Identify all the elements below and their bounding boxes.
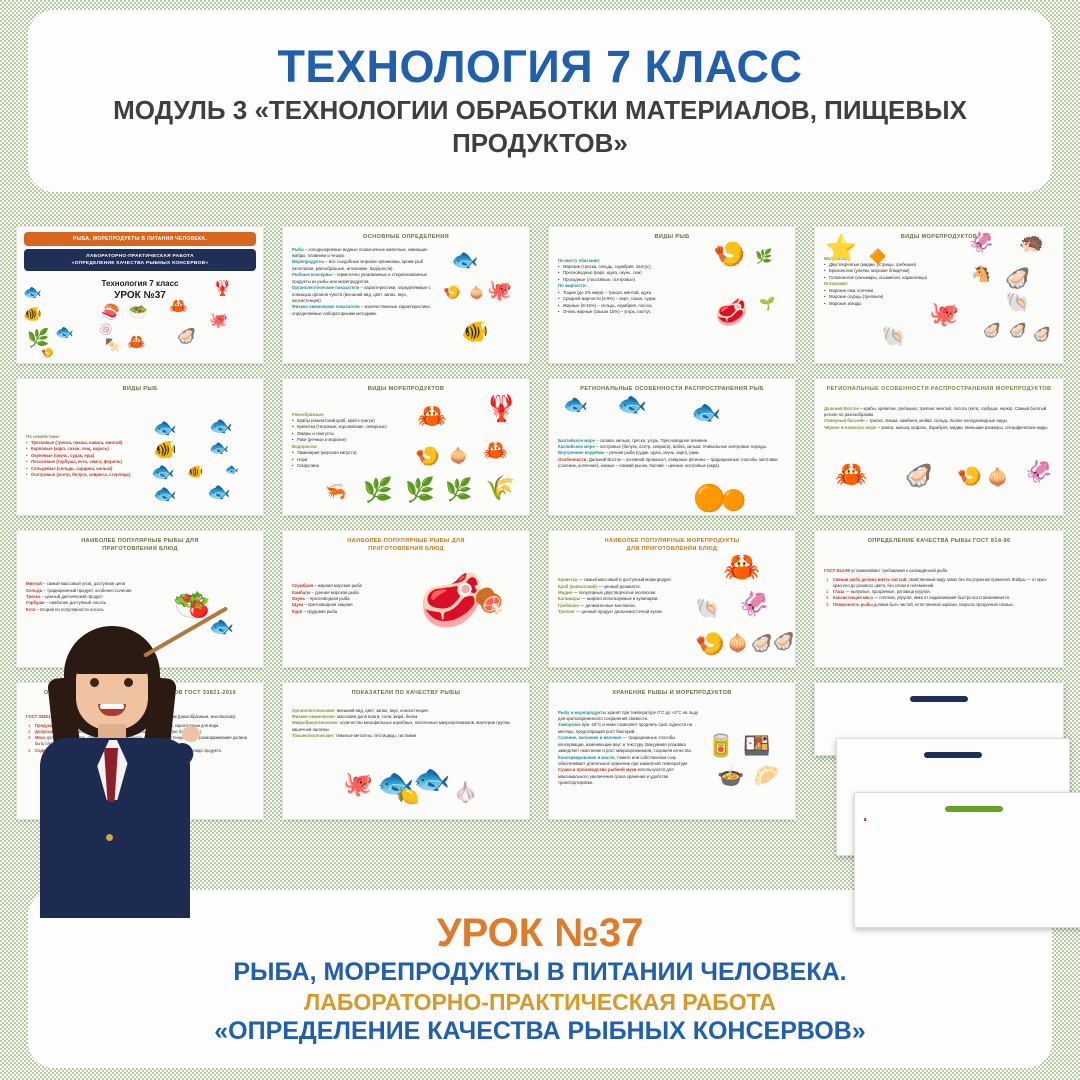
slide-thumbnail-fish-types-2[interactable]: ВИДЫ РЫБ По семействам: Тресковые (треск… <box>16 378 264 516</box>
slide-thumbnail-fish-quality-gost[interactable]: ОПРЕДЕЛЕНИЕ КАЧЕСТВА РЫБЫ ГОСТ 814-96 ГО… <box>814 530 1064 668</box>
slide7-line-4: Особенности: Дальний Восток – основной п… <box>558 457 786 470</box>
slide11-title-line2: ДЛЯ ПРИГОТОВЛЕНИЯ БЛЮД <box>559 546 785 554</box>
list-item: Проходные (лососёвые, осетровые) <box>558 277 702 283</box>
lesson-topic: РЫБА, МОРЕПРОДУКТЫ В ПИТАНИИ ЧЕЛОВЕКА. <box>233 957 846 988</box>
slide15-line-4: Консервирование в масле, томате или собс… <box>558 755 702 768</box>
slide1-navy-line1: ЛАБОРАТОРНО-ПРАКТИЧЕСКАЯ РАБОТА <box>26 253 254 260</box>
slide2-title: ОСНОВНЫЕ ОПРЕДЕЛЕНИЯ <box>289 232 523 242</box>
slide2-body: Рыба – холоднокровные водные позвоночные… <box>289 247 434 318</box>
slide10-body: Скумбрия – жирная морская рыба Камбала –… <box>289 583 409 615</box>
slide-thumbnail-seafood-types-1[interactable]: ВИДЫ МОРЕПРОДУКТОВ Моллюски: Двустворчат… <box>814 226 1064 364</box>
list-item: Поверхность рыбы должна быть чистой, ест… <box>826 602 1054 608</box>
slide12-requirements-list: Свежая рыба должна иметь чистый, свойств… <box>824 577 1054 608</box>
slide-thumbnail-title[interactable]: РЫБА, МОРЕПРОДУКТЫ В ПИТАНИИ ЧЕЛОВЕКА. Л… <box>16 226 264 364</box>
lab3-answers-badge[interactable] <box>945 806 1003 812</box>
fish-steak-closeup-illustration: 🥩 🍖 <box>409 565 529 663</box>
lab-slide-answers[interactable] <box>854 792 1080 928</box>
slide6-group-2-list: Ламинария (морская капуста) Нори Спирули… <box>292 450 426 469</box>
slide4-group-1-list: Двустворчатые (мидии, устрицы, гребешки)… <box>824 262 968 281</box>
slide5-family-list: Тресковые (треска, пикша, навага, минтай… <box>26 440 152 479</box>
slide-thumbnail-definitions[interactable]: ОСНОВНЫЕ ОПРЕДЕЛЕНИЯ Рыба – холоднокровн… <box>282 226 530 364</box>
slide8-title: РЕГИОНАЛЬНЫЕ ОСОБЕННОСТИ РАСПРОСТРАНЕНИЯ… <box>821 384 1057 394</box>
slide9-title-line2: ПРИГОТОВЛЕНИЯ БЛЮД <box>27 546 253 554</box>
regional-seafood-illustration: 🦀 🦪 🍤 🧅 🦑 <box>829 457 1059 515</box>
slide3-group-2-list: Тощие (до 2% жира) – треска, минтай, щук… <box>558 290 702 316</box>
list-item: Кета – второй по популярности лосось <box>26 607 166 613</box>
slide6-group-1-list: Крабы (камчатский краб, краб-стригун) Кр… <box>292 418 426 444</box>
slide15-title: ХРАНЕНИЕ РЫБЫ И МОРЕПРОДУКТОВ <box>555 688 789 698</box>
slide3-body: По месту обитания: Морские (треска, сель… <box>555 258 705 316</box>
slide2-line-4: Органолептические показатели – характери… <box>292 285 431 304</box>
slide1-navy-line2: «ОПРЕДЕЛЕНИЕ КАЧЕСТВА РЫБНЫХ КОНСЕРВОВ» <box>26 260 254 267</box>
module-subtitle: МОДУЛЬ 3 «ТЕХНОЛОГИИ ОБРАБОТКИ МАТЕРИАЛО… <box>100 94 980 158</box>
slide-thumbnail-popular-fish-2[interactable]: НАИБОЛЕЕ ПОПУЛЯРНЫЕ РЫБЫ ДЛЯ ПРИГОТОВЛЕН… <box>282 530 530 668</box>
slide15-body: Рыбу и морепродукты хранят при температу… <box>555 710 705 787</box>
list-item: Спирулина <box>292 463 426 469</box>
lesson-work-title: «ОПРЕДЕЛЕНИЕ КАЧЕСТВА РЫБНЫХ КОНСЕРВОВ» <box>214 1016 865 1047</box>
slide4-body: Моллюски: Двустворчатые (мидии, устрицы,… <box>821 256 971 308</box>
packaged-fish-illustration: 🥫 🍱 🍲 🥟 <box>705 735 796 805</box>
slide15-line-2: Заморозка при -18°С и ниже позволяет про… <box>558 722 702 735</box>
list-item: Головоногие (кальмары, осьминоги, карака… <box>824 275 968 281</box>
slide2-line-1: Рыба – холоднокровные водные позвоночные… <box>292 247 431 260</box>
slide1-center-block: Технология 7 класс УРОК №37 <box>17 279 263 301</box>
slide9-title: НАИБОЛЕЕ ПОПУЛЯРНЫЕ РЫБЫ ДЛЯ ПРИГОТОВЛЕН… <box>23 536 257 553</box>
slide11-title: НАИБОЛЕЕ ПОПУЛЯРНЫЕ МОРЕПРОДУКТЫ ДЛЯ ПРИ… <box>555 536 789 553</box>
top-title-banner: ТЕХНОЛОГИЯ 7 КЛАСС МОДУЛЬ 3 «ТЕХНОЛОГИИ … <box>28 10 1052 192</box>
slide-thumbnail-quality-indicators[interactable]: ПОКАЗАТЕЛИ ПО КАЧЕСТВУ РЫБЫ Органолептич… <box>282 682 530 820</box>
fish-species-illustration: 🐟 🐟 🐠 🐟 🐟 🐠 🐟 🐟 🐟 <box>151 413 263 511</box>
eye-left <box>90 678 99 687</box>
slide-thumbnail-seafood-regions[interactable]: РЕГИОНАЛЬНЫЕ ОСОБЕННОСТИ РАСПРОСТРАНЕНИЯ… <box>814 378 1064 516</box>
popular-seafood-illustration: 🦀 🐚 🦑 🍤 🧅 🦪 🦪 <box>695 551 795 667</box>
slide1-lesson-number: УРОК №37 <box>17 290 263 301</box>
slide-thumbnail-fish-regions[interactable]: РЕГИОНАЛЬНЫЕ ОСОБЕННОСТИ РАСПРОСТРАНЕНИЯ… <box>548 378 796 516</box>
slide14-line-4: Токсикологические: тяжелые металлы, пест… <box>292 733 520 739</box>
slide1-orange-header: РЫБА, МОРЕПРОДУКТЫ В ПИТАНИИ ЧЕЛОВЕКА. <box>24 232 256 246</box>
slide2-line-3: Рыбные консервы – герметично упакованные… <box>292 272 431 285</box>
lesson-number: УРОК №37 <box>437 911 644 955</box>
slide7-body: Балтийское море – салака, килька, треска… <box>555 438 789 470</box>
slide5-body: По семействам: Тресковые (треска, пикша,… <box>23 434 155 479</box>
list-item: Очень жирные (свыше 15%) – угорь, палтус <box>558 309 702 315</box>
slide-thumbnail-popular-seafood[interactable]: НАИБОЛЕЕ ПОПУЛЯРНЫЕ МОРЕПРОДУКТЫ ДЛЯ ПРИ… <box>548 530 796 668</box>
slide10-title-line1: НАИБОЛЕЕ ПОПУЛЯРНЫЕ РЫБЫ ДЛЯ <box>293 538 519 546</box>
page-title: ТЕХНОЛОГИЯ 7 КЛАСС <box>277 43 802 90</box>
slide4-group-2-list: Морские ежи, кончики Морские огурцы (тре… <box>824 288 968 307</box>
slide7-title: РЕГИОНАЛЬНЫЕ ОСОБЕННОСТИ РАСПРОСТРАНЕНИЯ… <box>555 384 789 394</box>
list-item: Свежая рыба должна иметь чистый, свойств… <box>826 577 1054 589</box>
slide-thumbnail-fish-types-1[interactable]: ВИДЫ РЫБ По месту обитания: Морские (тре… <box>548 226 796 364</box>
list-item: Морские звезды <box>824 301 968 307</box>
slide5-title: ВИДЫ РЫБ <box>23 384 257 394</box>
list-item: Трепанг — ценный продукт дальневосточной… <box>558 609 698 615</box>
teeth <box>100 704 124 709</box>
slide8-line-1: Дальний Восток – крабы, креветки, гребеш… <box>824 406 1054 419</box>
slide10-title-line2: ПРИГОТОВЛЕНИЯ БЛЮД <box>293 546 519 554</box>
fish-illustration: 🐟 🍤 🧅 🐙 🐠 <box>443 245 529 363</box>
fish-platter-illustration: 🐙 🐟 🐟 🍋 🧄 <box>343 765 503 820</box>
slide-thumbnail-storage[interactable]: ХРАНЕНИЕ РЫБЫ И МОРЕПРОДУКТОВ Рыбу и мор… <box>548 682 796 820</box>
slide3-group-1-list: Морские (треска, сельдь, скумбрия, палту… <box>558 264 702 283</box>
slide12-intro: ГОСТ 814-96 устанавливает требования к о… <box>824 568 1054 574</box>
slide9-title-line1: НАИБОЛЕЕ ПОПУЛЯРНЫЕ РЫБЫ ДЛЯ <box>27 538 253 546</box>
slide14-title: ПОКАЗАТЕЛИ ПО КАЧЕСТВУ РЫБЫ <box>289 688 523 698</box>
slide6-title: ВИДЫ МОРЕПРОДУКТОВ <box>289 384 523 394</box>
slide10-title: НАИБОЛЕЕ ПОПУЛЯРНЫЕ РЫБЫ ДЛЯ ПРИГОТОВЛЕН… <box>289 536 523 553</box>
list-item: Раки (речные и морские) <box>292 437 426 443</box>
slide4-title: ВИДЫ МОРЕПРОДУКТОВ <box>821 232 1057 242</box>
jacket-button <box>106 834 113 841</box>
slide15-line-5: Сушка и производство рыбной муки использ… <box>558 767 702 786</box>
eye-right <box>124 678 133 687</box>
hand <box>182 726 200 742</box>
slide6-body: Ракообразные: Крабы (камчатский краб, кр… <box>289 412 429 470</box>
lab2-task-badge[interactable] <box>924 752 982 758</box>
slide8-body: Дальний Восток – крабы, креветки, гребеш… <box>821 406 1057 432</box>
slide14-line-3: Микробиологические: количество мезофильн… <box>292 720 520 733</box>
slide12-title: ОПРЕДЕЛЕНИЕ КАЧЕСТВА РЫБЫ ГОСТ 814-96 <box>821 536 1057 546</box>
slide15-line-1: Рыбу и морепродукты хранят при температу… <box>558 710 702 723</box>
slide9-body: Минтай – самый массовый улов, доступная … <box>23 581 169 613</box>
lab1-task-badge[interactable] <box>910 696 968 702</box>
lesson-worktype: ЛАБОРАТОРНО-ПРАКТИЧЕСКАЯ РАБОТА <box>304 988 776 1016</box>
slide14-body: Органолептические: внешний вид, цвет, за… <box>289 708 523 740</box>
teacher-character-illustration <box>24 626 206 918</box>
fish-steak-illustration: 🍤 🌿 🥩 🌱 <box>709 239 796 363</box>
slide8-line-3: Чёрное и Азовское море – хамса, килька, … <box>824 425 1054 431</box>
list-item: Осетровые (осетр, белуга, севрюга, стерл… <box>26 472 152 478</box>
slide-thumbnail-seafood-types-2[interactable]: ВИДЫ МОРЕПРОДУКТОВ Ракообразные: Крабы (… <box>282 378 530 516</box>
slide12-body: ГОСТ 814-96 устанавливает требования к о… <box>821 568 1057 608</box>
slide11-body: Креветка — самый массовый и доступный мо… <box>555 577 701 616</box>
slide1-navy-header: ЛАБОРАТОРНО-ПРАКТИЧЕСКАЯ РАБОТА «ОПРЕДЕЛ… <box>24 249 256 271</box>
slide1-subject: Технология 7 класс <box>17 279 263 288</box>
list-item: Карп – прудовая рыба <box>292 609 406 615</box>
slide15-line-3: Соление, копчение и вяление — традиционн… <box>558 735 702 754</box>
slide11-title-line1: НАИБОЛЕЕ ПОПУЛЯРНЫЕ МОРЕПРОДУКТЫ <box>559 538 785 546</box>
slide3-title: ВИДЫ РЫБ <box>555 232 789 242</box>
slide2-line-2: Морепродукты – все съедобные морские орг… <box>292 259 431 272</box>
slide2-line-5: Физико-химические показатели – количеств… <box>292 304 431 317</box>
